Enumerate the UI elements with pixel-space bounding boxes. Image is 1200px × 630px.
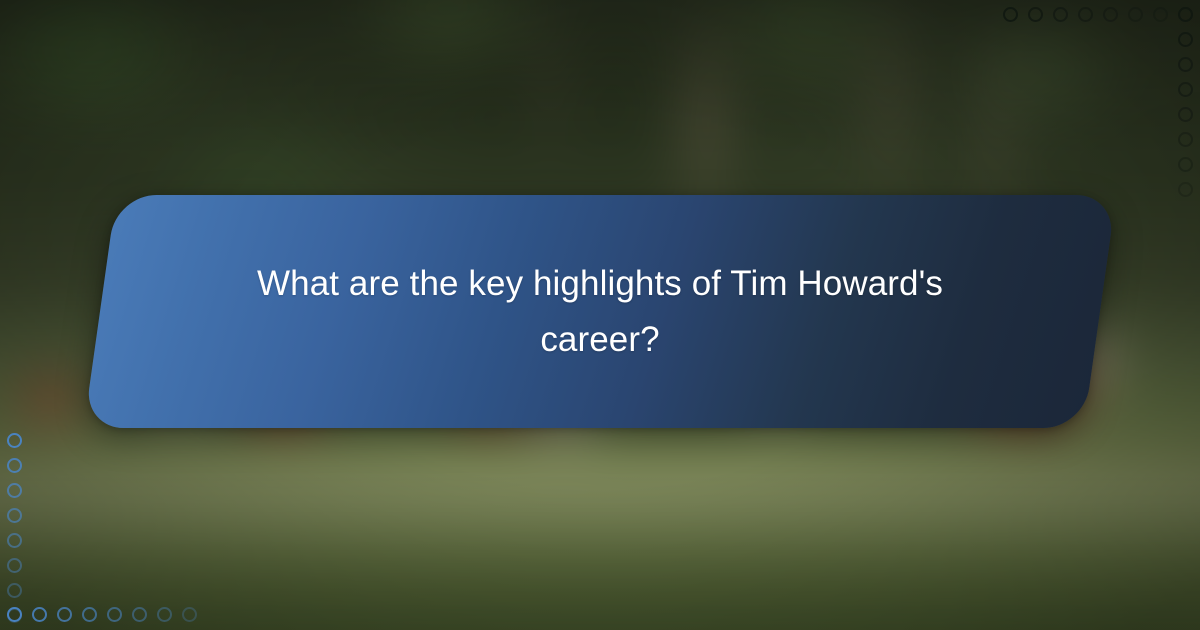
decorative-dot (1178, 107, 1193, 122)
decorative-dot (1178, 57, 1193, 72)
decorative-dot (1103, 7, 1118, 22)
decorative-dot (7, 483, 22, 498)
decorative-dot (1178, 157, 1193, 172)
screenshot-canvas: What are the key highlights of Tim Howar… (0, 0, 1200, 630)
decorative-dots-left (0, 420, 30, 630)
decorative-dot (1053, 7, 1068, 22)
decorative-dot (7, 608, 22, 623)
decorative-dot (32, 607, 47, 622)
decorative-dot (7, 558, 22, 573)
decorative-dot (1128, 7, 1143, 22)
decorative-dot (57, 607, 72, 622)
decorative-dot (107, 607, 122, 622)
decorative-dot (7, 508, 22, 523)
decorative-dot (7, 583, 22, 598)
decorative-dot (1003, 7, 1018, 22)
decorative-dot (7, 433, 22, 448)
decorative-dot (1028, 7, 1043, 22)
question-card-inner: What are the key highlights of Tim Howar… (100, 195, 1100, 428)
decorative-dot (1178, 182, 1193, 197)
decorative-dot (1178, 132, 1193, 147)
decorative-dot (1078, 7, 1093, 22)
decorative-dot (1178, 7, 1193, 22)
decorative-dots-right (1170, 0, 1200, 210)
decorative-dots-bottom-left (0, 600, 220, 630)
question-card: What are the key highlights of Tim Howar… (84, 195, 1117, 428)
decorative-dot (7, 458, 22, 473)
decorative-dot (1153, 7, 1168, 22)
decorative-dot (182, 607, 197, 622)
decorative-dot (1178, 32, 1193, 47)
decorative-dot (132, 607, 147, 622)
decorative-dot (7, 533, 22, 548)
decorative-dot (82, 607, 97, 622)
decorative-dot (157, 607, 172, 622)
question-text: What are the key highlights of Tim Howar… (220, 256, 980, 367)
decorative-dot (1178, 82, 1193, 97)
